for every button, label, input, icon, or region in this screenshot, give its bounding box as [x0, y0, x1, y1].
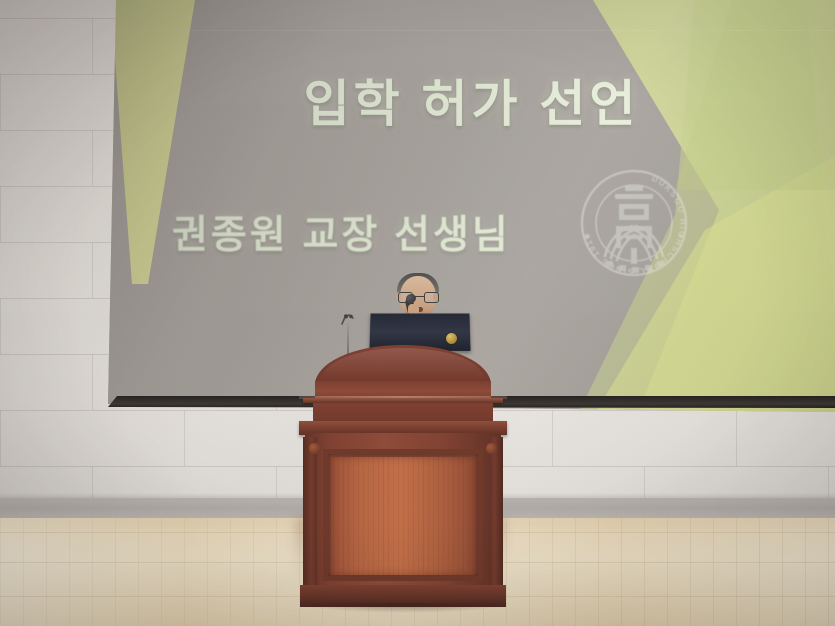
gooseneck-microphone-icon — [340, 312, 356, 324]
podium-contact-shadow — [297, 603, 513, 613]
lectern-badge-icon — [446, 333, 457, 344]
podium-pilaster-left — [303, 437, 317, 587]
podium — [297, 345, 509, 613]
podium-inset-panel — [331, 457, 475, 575]
podium-rosette-left-icon — [309, 443, 320, 454]
podium-rosette-right-icon — [486, 443, 497, 454]
photo-scene: DUKSOO HIGHSCHOOL SINCE 1910 — [0, 0, 835, 626]
podium-pilaster-right — [489, 437, 503, 587]
